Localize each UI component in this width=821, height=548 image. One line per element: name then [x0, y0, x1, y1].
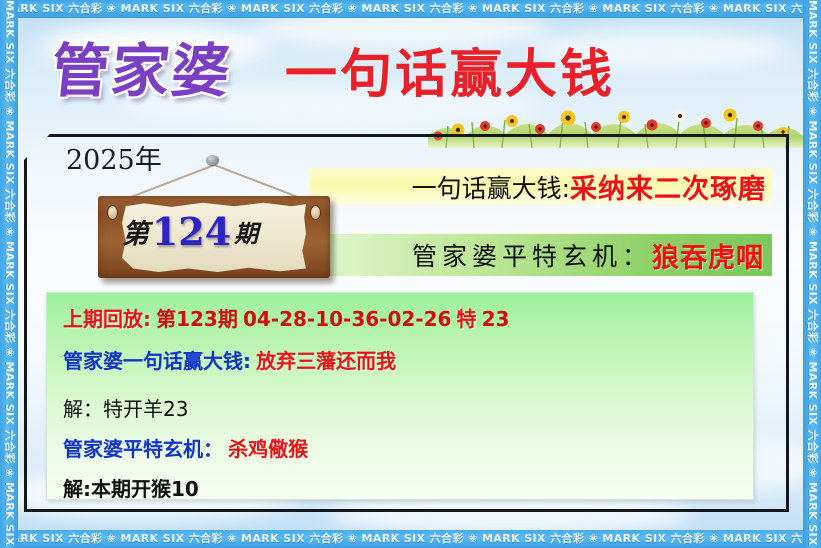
- issue-prefix: 第: [122, 212, 149, 251]
- previous-draw-numbers: 04-28-10-36-02-26: [243, 307, 452, 331]
- previous-phrase-label: 管家婆一句话赢大钱:: [63, 349, 251, 373]
- issue-number-text: 第 124 期: [98, 196, 282, 266]
- previous-phrase-row: 管家婆一句话赢大钱: 放弃三藩还而我: [63, 345, 396, 374]
- issue-suffix: 期: [234, 214, 258, 249]
- issue-number: 124: [149, 209, 234, 254]
- previous-phrase-answer: 解：特开羊23: [63, 397, 188, 421]
- banner-riddle-value: 狼吞虎咽: [652, 236, 764, 275]
- previous-draw-row: 上期回放: 第123期 04-28-10-36-02-26 特 23: [63, 303, 509, 332]
- previous-riddle-row: 管家婆平特玄机： 杀鸡儆猴: [63, 433, 308, 462]
- marquee-border-left: MARK SIX 六合彩 ❀ MARK SIX 六合彩 ❀ MARK SIX 六…: [0, 0, 18, 548]
- marquee-text: MARK SIX 六合彩 ❀ MARK SIX 六合彩 ❀ MARK SIX 六…: [0, 0, 821, 18]
- banner-phrase: 一句话赢大钱: 采纳来二次琢磨: [310, 168, 772, 205]
- plaque-hole-right: [310, 205, 321, 220]
- page-title-brand: 管家婆: [48, 24, 237, 108]
- marquee-text: MARK SIX 六合彩 ❀ MARK SIX 六合彩 ❀ MARK SIX 六…: [0, 530, 821, 548]
- marquee-text: MARK SIX 六合彩 ❀ MARK SIX 六合彩 ❀ MARK SIX 六…: [0, 0, 18, 548]
- page-title-slogan: 一句话赢大钱: [285, 32, 615, 107]
- previous-riddle-answer: 解:本期开猴10: [63, 477, 199, 501]
- previous-draw-issue: 第123期: [156, 307, 238, 331]
- banner-phrase-label: 一句话赢大钱:: [412, 169, 570, 205]
- banner-riddle-label: 管家婆平特玄机：: [412, 237, 652, 273]
- previous-draw-special-label: 特: [457, 307, 477, 331]
- marquee-border-right: MARK SIX 六合彩 ❀ MARK SIX 六合彩 ❀ MARK SIX 六…: [803, 0, 821, 548]
- marquee-text: MARK SIX 六合彩 ❀ MARK SIX 六合彩 ❀ MARK SIX 六…: [803, 0, 821, 548]
- previous-phrase-answer-row: 解：特开羊23: [63, 393, 188, 422]
- marquee-border-bottom: MARK SIX 六合彩 ❀ MARK SIX 六合彩 ❀ MARK SIX 六…: [0, 530, 821, 548]
- plaque-board: 第 124 期: [98, 196, 330, 278]
- previous-riddle-label: 管家婆平特玄机：: [63, 437, 223, 461]
- results-panel: 上期回放: 第123期 04-28-10-36-02-26 特 23 管家婆一句…: [46, 292, 754, 500]
- marquee-border-top: MARK SIX 六合彩 ❀ MARK SIX 六合彩 ❀ MARK SIX 六…: [0, 0, 821, 18]
- previous-draw-label: 上期回放:: [63, 307, 151, 331]
- issue-plaque: 第 124 期: [98, 160, 330, 278]
- banner-riddle: 管家婆平特玄机： 狼吞虎咽: [310, 234, 772, 276]
- lottery-poster: 管家婆 一句话赢大钱 2025年 第 124 期 一句话赢大钱: 采纳来二次琢磨…: [0, 0, 821, 548]
- previous-phrase-value: 放弃三藩还而我: [256, 349, 396, 373]
- header: 管家婆 一句话赢大钱: [0, 26, 821, 98]
- previous-draw-special: 23: [482, 307, 510, 331]
- previous-riddle-answer-row: 解:本期开猴10: [63, 473, 199, 502]
- plaque-nail-icon: [206, 155, 219, 165]
- banner-phrase-value: 采纳来二次琢磨: [570, 167, 766, 206]
- previous-riddle-value: 杀鸡儆猴: [228, 437, 308, 461]
